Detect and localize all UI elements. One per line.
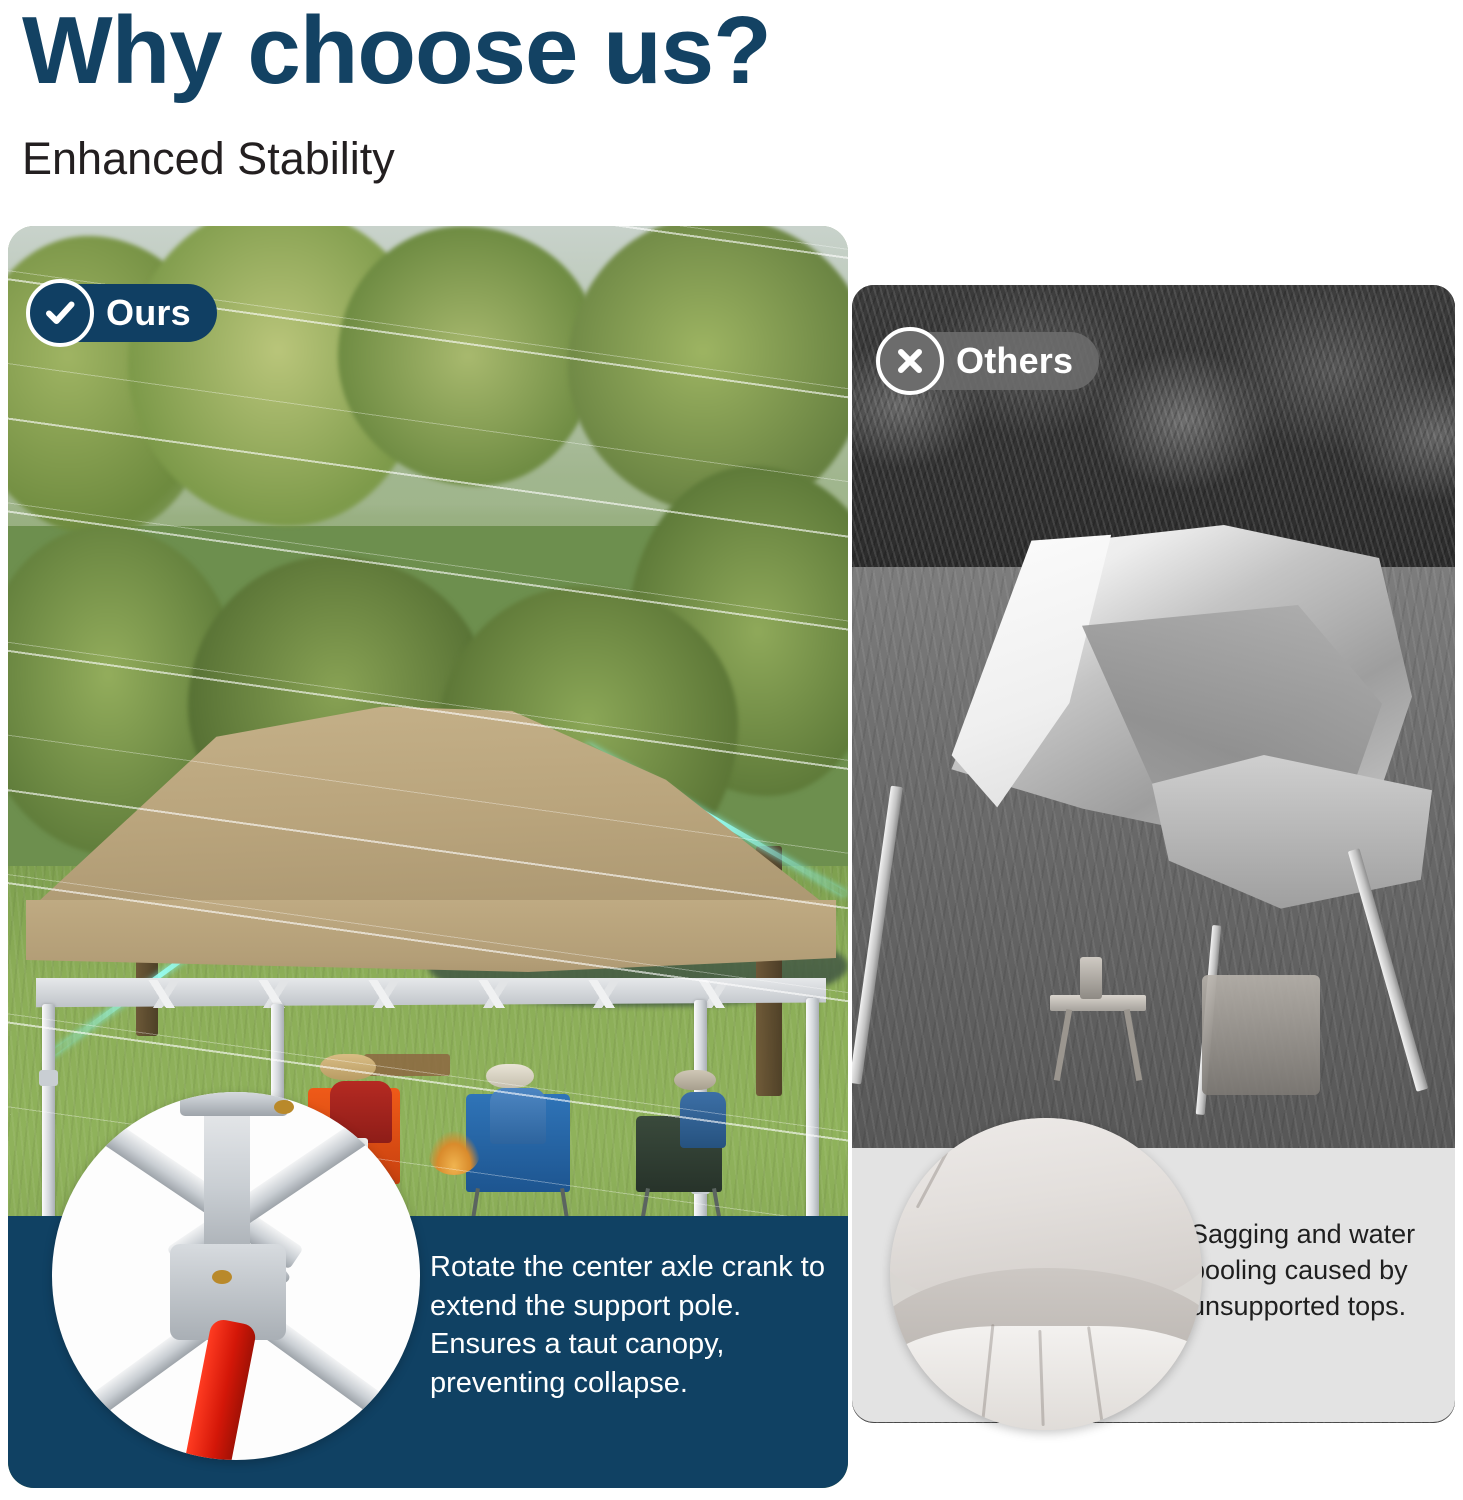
canopy-truss: [666, 980, 762, 1008]
x-circle-icon: [876, 327, 944, 395]
page-subtitle: Enhanced Stability: [22, 133, 395, 185]
hub-bolt: [212, 1270, 232, 1284]
badge-others-label: Others: [956, 340, 1073, 382]
inset-ours-crank-detail: [52, 1092, 420, 1460]
check-circle-icon: [26, 279, 94, 347]
straw-hat: [320, 1054, 376, 1080]
hub-bolt: [274, 1100, 294, 1114]
upper-bracket: [180, 1092, 288, 1116]
canopy-truss: [446, 980, 542, 1008]
camper-torso: [490, 1088, 546, 1144]
collapsed-chair: [1202, 975, 1320, 1095]
badge-others: Others: [880, 332, 1099, 390]
cap-hat: [486, 1064, 534, 1088]
canopy-leg-foot: [39, 1070, 58, 1086]
caption-ours-text: Rotate the center axle crank to extend t…: [430, 1248, 830, 1402]
inset-others-sagging-fabric: [890, 1118, 1202, 1430]
camper-torso: [680, 1092, 726, 1148]
canopy-truss: [336, 980, 432, 1008]
cap-hat: [674, 1070, 716, 1090]
header: Why choose us? Enhanced Stability: [0, 0, 1463, 200]
page-title: Why choose us?: [22, 2, 771, 100]
badge-ours-label: Ours: [106, 292, 191, 334]
canopy-truss: [556, 980, 652, 1008]
campfire: [428, 1131, 480, 1175]
canopy-roof: [26, 698, 836, 913]
caption-others-text: Sagging and water pooling caused by unsu…: [1190, 1216, 1440, 1325]
jar-on-table: [1080, 957, 1102, 999]
canopy-leg: [806, 998, 819, 1226]
sagging-fabric-bottom: [890, 1326, 1202, 1430]
badge-ours: Ours: [30, 284, 217, 342]
canopy-leg: [42, 1004, 55, 1234]
canopy-truss: [116, 980, 212, 1008]
